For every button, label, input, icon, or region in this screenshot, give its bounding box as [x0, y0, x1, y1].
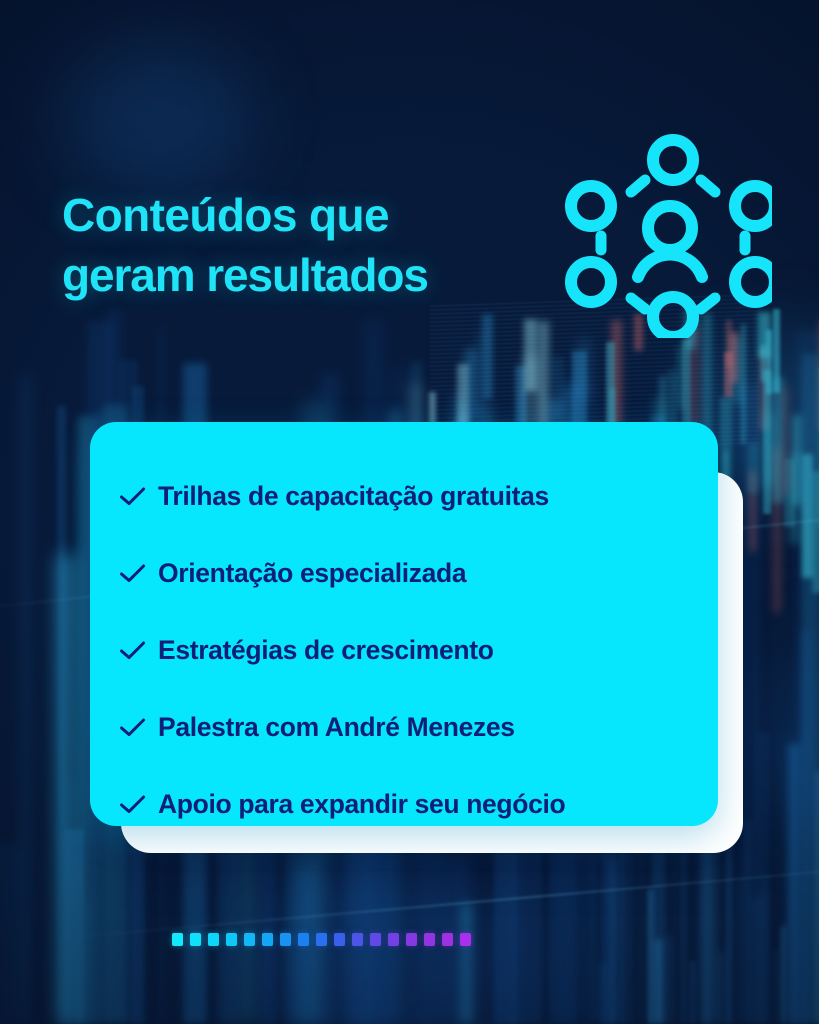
- list-item-label: Estratégias de crescimento: [158, 635, 494, 666]
- check-icon: [116, 792, 150, 818]
- check-icon: [116, 715, 150, 741]
- benefits-card: Trilhas de capacitação gratuitasOrientaç…: [90, 422, 718, 826]
- list-item: Orientação especializada: [90, 535, 718, 612]
- dot-13: [388, 933, 399, 946]
- dot-4: [226, 933, 237, 946]
- list-item: Apoio para expandir seu negócio: [90, 766, 718, 843]
- dot-12: [370, 933, 381, 946]
- list-item: Trilhas de capacitação gratuitas: [90, 458, 718, 535]
- list-item-label: Orientação especializada: [158, 558, 466, 589]
- poster-canvas: Conteúdos que geram resultados: [0, 0, 819, 1024]
- check-icon: [116, 638, 150, 664]
- dot-2: [190, 933, 201, 946]
- dot-11: [352, 933, 363, 946]
- page-title: Conteúdos que geram resultados: [62, 186, 602, 306]
- dot-5: [244, 933, 255, 946]
- dot-16: [442, 933, 453, 946]
- list-item-label: Palestra com André Menezes: [158, 712, 515, 743]
- dot-6: [262, 933, 273, 946]
- list-item: Palestra com André Menezes: [90, 689, 718, 766]
- dot-9: [316, 933, 327, 946]
- list-item: Estratégias de crescimento: [90, 612, 718, 689]
- list-item-label: Trilhas de capacitação gratuitas: [158, 481, 549, 512]
- check-icon: [116, 561, 150, 587]
- dot-7: [280, 933, 291, 946]
- headline-line-2: geram resultados: [62, 246, 602, 306]
- benefits-list: Trilhas de capacitação gratuitasOrientaç…: [90, 458, 718, 843]
- check-icon: [116, 484, 150, 510]
- dot-17: [460, 933, 471, 946]
- dot-14: [406, 933, 417, 946]
- dot-1: [172, 933, 183, 946]
- dot-15: [424, 933, 435, 946]
- list-item-label: Apoio para expandir seu negócio: [158, 789, 565, 820]
- dot-10: [334, 933, 345, 946]
- network-community-icon: [560, 132, 772, 338]
- dot-8: [298, 933, 309, 946]
- decorative-dot-row: [172, 933, 471, 946]
- headline-line-1: Conteúdos que: [62, 186, 602, 246]
- dot-3: [208, 933, 219, 946]
